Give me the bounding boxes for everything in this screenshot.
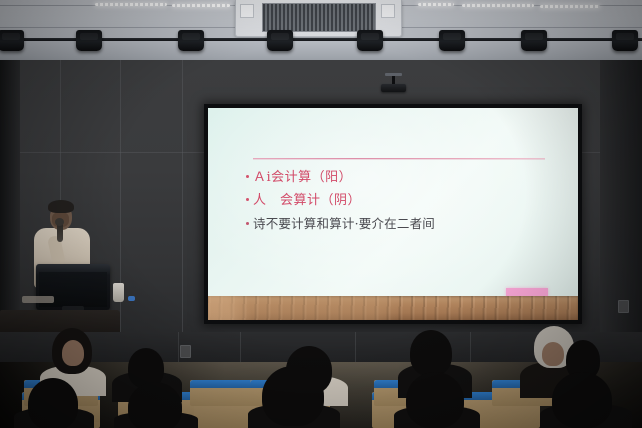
wall-outlet bbox=[180, 345, 191, 358]
ceiling-strip-light bbox=[172, 4, 230, 7]
ceiling-fixture bbox=[357, 30, 383, 51]
wall-seam bbox=[182, 60, 183, 332]
wall-right-shadow bbox=[600, 60, 642, 332]
ceiling-strip-light bbox=[540, 5, 600, 8]
slide-bullet-2: 人 会算计（阴） bbox=[246, 193, 568, 208]
ceiling-projector bbox=[381, 84, 406, 92]
slide-bullet-1-text: Ａi会计算（阳） bbox=[253, 170, 352, 185]
projection-screen[interactable]: Ａi会计算（阳） 人 会算计（阴） 诗不要计算和算计·要介在二者间 bbox=[208, 108, 578, 320]
podium-indicator-light bbox=[128, 296, 135, 301]
vent-corner bbox=[240, 4, 254, 18]
slide-bullet-2-text: 人 会算计（阴） bbox=[253, 193, 361, 208]
audience-face bbox=[62, 340, 84, 366]
ceiling-fixture bbox=[76, 30, 102, 51]
bullet-dot-icon bbox=[246, 198, 249, 201]
slide-divider-rule bbox=[253, 158, 545, 159]
podium-papers bbox=[22, 296, 54, 303]
vent-corner bbox=[381, 4, 395, 18]
ceiling-fixture bbox=[612, 30, 638, 51]
slide-wood-floor-image bbox=[208, 296, 578, 320]
slide-bullet-3: 诗不要计算和算计·要介在二者间 bbox=[246, 216, 568, 231]
presenter-hair bbox=[48, 200, 74, 213]
wall-outlet bbox=[618, 300, 629, 313]
ceiling-fixture bbox=[439, 30, 465, 51]
ceiling-fixture bbox=[521, 30, 547, 51]
lecture-hall-screenshot: Ａi会计算（阳） 人 会算计（阴） 诗不要计算和算计·要介在二者间 bbox=[0, 0, 642, 428]
audience-head bbox=[552, 372, 612, 428]
vent-grille bbox=[262, 3, 376, 32]
ceiling-fixture bbox=[178, 30, 204, 51]
ceiling-fixture bbox=[267, 30, 293, 51]
microphone-head-icon bbox=[55, 218, 64, 226]
slide-bullet-3-text: 诗不要计算和算计·要介在二者间 bbox=[253, 216, 435, 231]
bullet-dot-icon bbox=[246, 222, 249, 225]
bullet-dot-icon bbox=[246, 175, 249, 178]
audience-head bbox=[410, 330, 452, 376]
audience-face bbox=[542, 342, 564, 366]
audience-head bbox=[128, 382, 182, 428]
desk-cup bbox=[113, 283, 124, 302]
ceiling-fixture bbox=[0, 30, 24, 51]
ceiling-strip-light bbox=[95, 3, 167, 6]
slide-bullet-list: Ａi会计算（阳） 人 会算计（阴） 诗不要计算和算计·要介在二者间 bbox=[246, 170, 568, 239]
slide-bullet-1: Ａi会计算（阳） bbox=[246, 170, 568, 185]
audience-head bbox=[406, 372, 464, 428]
ceiling-strip-light bbox=[418, 3, 454, 6]
podium-monitor bbox=[36, 264, 110, 310]
ceiling-strip-light bbox=[462, 4, 534, 7]
audience-head bbox=[28, 378, 78, 428]
audience-head bbox=[262, 366, 324, 426]
